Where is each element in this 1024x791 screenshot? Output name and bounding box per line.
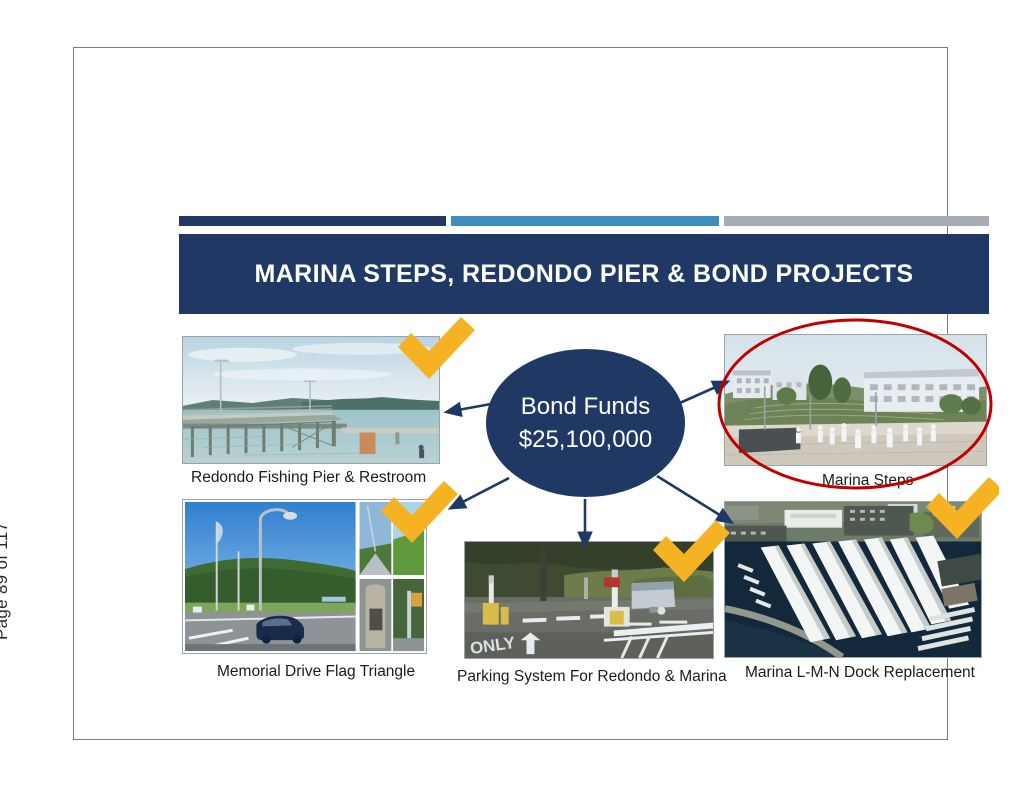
accent-bar-navy [179, 216, 446, 226]
caption-redondo-pier: Redondo Fishing Pier & Restroom [191, 469, 426, 487]
slide-title: MARINA STEPS, REDONDO PIER & BOND PROJEC… [255, 260, 914, 289]
photo-memorial-drive-flag-triangle [182, 499, 427, 654]
caption-parking-system: Parking System For Redondo & Marina [457, 668, 727, 686]
caption-marina-steps: Marina Steps [822, 472, 913, 490]
photo-redondo-fishing-pier [182, 336, 440, 464]
bond-funds-node: Bond Funds $25,100,000 [486, 349, 685, 497]
accent-bar-group [179, 216, 989, 226]
bond-funds-amount: $25,100,000 [519, 423, 652, 456]
arrow-to-dock [657, 476, 731, 522]
document-page: MARINA STEPS, REDONDO PIER & BOND PROJEC… [73, 47, 948, 740]
slide-canvas: MARINA STEPS, REDONDO PIER & BOND PROJEC… [179, 216, 999, 696]
photo-marina-dock-replacement [724, 501, 982, 658]
caption-memorial-drive: Memorial Drive Flag Triangle [217, 663, 415, 681]
arrow-to-memorial [451, 478, 509, 508]
caption-marina-dock: Marina L-M-N Dock Replacement [745, 664, 975, 682]
accent-bar-blue [451, 216, 719, 226]
accent-bar-gray [724, 216, 989, 226]
bond-funds-label: Bond Funds [521, 390, 650, 423]
photo-marina-steps [724, 334, 987, 466]
slide-title-band: MARINA STEPS, REDONDO PIER & BOND PROJEC… [179, 234, 989, 314]
page-number-label: Page 89 of 117 [0, 480, 12, 640]
photo-parking-system: ONLY [464, 541, 714, 659]
title-band-notch [411, 314, 457, 328]
arrow-to-pier [447, 404, 491, 412]
